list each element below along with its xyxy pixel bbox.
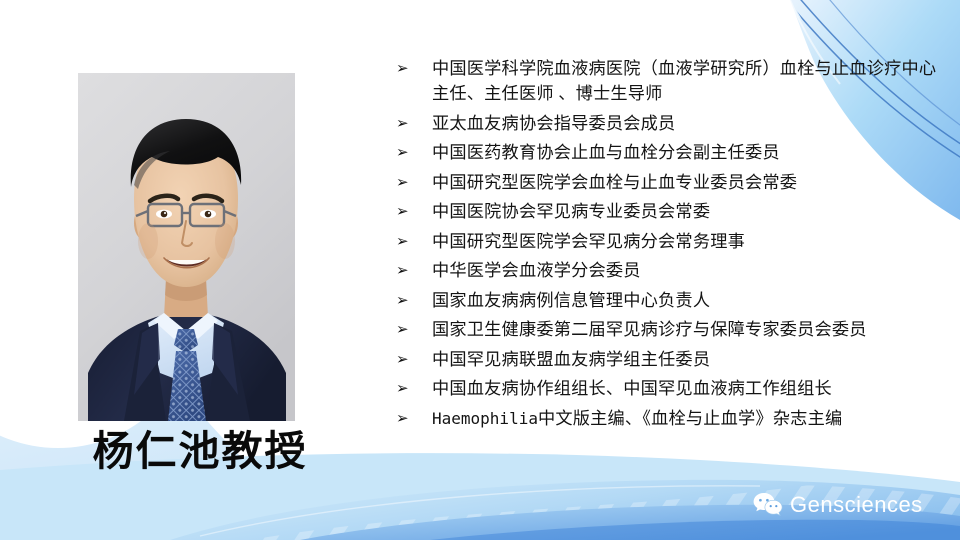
presentation-slide: 杨仁池教授 ➢ 中国医学科学院血液病医院（血液学研究所）血栓与止血诊疗中心主任、… <box>0 0 960 540</box>
portrait-photo-image <box>78 73 295 421</box>
list-item: ➢ 中国研究型医院学会罕见病分会常务理事 <box>392 229 948 254</box>
list-item-label: 中国研究型医院学会血栓与止血专业委员会常委 <box>432 170 948 195</box>
list-item-label: 亚太血友病协会指导委员会成员 <box>432 111 948 136</box>
list-item: ➢ 中国血友病协作组组长、中国罕见血液病工作组组长 <box>392 376 948 401</box>
list-item-label: 中国医药教育协会止血与血栓分会副主任委员 <box>432 140 948 165</box>
list-item-label: 国家血友病病例信息管理中心负责人 <box>432 288 948 313</box>
list-item-label: 中华医学会血液学分会委员 <box>432 258 948 283</box>
list-item: ➢ 中国研究型医院学会血栓与止血专业委员会常委 <box>392 170 948 195</box>
arrow-bullet-icon: ➢ <box>392 111 432 136</box>
watermark: Gensciences <box>753 492 923 518</box>
list-item: ➢ 中国医学科学院血液病医院（血液学研究所）血栓与止血诊疗中心主任、主任医师 、… <box>392 56 948 106</box>
list-item-label: 中国罕见病联盟血友病学组主任委员 <box>432 347 948 372</box>
list-item: ➢ 国家血友病病例信息管理中心负责人 <box>392 288 948 313</box>
arrow-bullet-icon: ➢ <box>392 229 432 254</box>
list-item: ➢ Haemophilia中文版主编、《血栓与止血学》杂志主编 <box>392 406 948 431</box>
arrow-bullet-icon: ➢ <box>392 347 432 372</box>
wechat-icon <box>753 492 783 518</box>
credentials-list: ➢ 中国医学科学院血液病医院（血液学研究所）血栓与止血诊疗中心主任、主任医师 、… <box>392 56 948 435</box>
list-item: ➢ 中国医院协会罕见病专业委员会常委 <box>392 199 948 224</box>
arrow-bullet-icon: ➢ <box>392 56 432 81</box>
list-item-label: 国家卫生健康委第二届罕见病诊疗与保障专家委员会委员 <box>432 317 948 342</box>
arrow-bullet-icon: ➢ <box>392 317 432 342</box>
list-item-label: 中国医学科学院血液病医院（血液学研究所）血栓与止血诊疗中心主任、主任医师 、博士… <box>432 56 948 106</box>
arrow-bullet-icon: ➢ <box>392 288 432 313</box>
arrow-bullet-icon: ➢ <box>392 140 432 165</box>
arrow-bullet-icon: ➢ <box>392 406 432 431</box>
list-item: ➢ 国家卫生健康委第二届罕见病诊疗与保障专家委员会委员 <box>392 317 948 342</box>
arrow-bullet-icon: ➢ <box>392 376 432 401</box>
list-item-label: 中国医院协会罕见病专业委员会常委 <box>432 199 948 224</box>
list-item: ➢ 亚太血友病协会指导委员会成员 <box>392 111 948 136</box>
portrait-photo <box>78 73 295 421</box>
page-title: 杨仁池教授 <box>60 428 340 475</box>
list-item-label: 中国血友病协作组组长、中国罕见血液病工作组组长 <box>432 376 948 401</box>
list-item-label: Haemophilia中文版主编、《血栓与止血学》杂志主编 <box>432 406 948 431</box>
arrow-bullet-icon: ➢ <box>392 199 432 224</box>
watermark-label: Gensciences <box>790 494 923 516</box>
arrow-bullet-icon: ➢ <box>392 170 432 195</box>
list-item: ➢ 中国罕见病联盟血友病学组主任委员 <box>392 347 948 372</box>
arrow-bullet-icon: ➢ <box>392 258 432 283</box>
list-item: ➢ 中华医学会血液学分会委员 <box>392 258 948 283</box>
list-item-label: 中国研究型医院学会罕见病分会常务理事 <box>432 229 948 254</box>
list-item: ➢ 中国医药教育协会止血与血栓分会副主任委员 <box>392 140 948 165</box>
